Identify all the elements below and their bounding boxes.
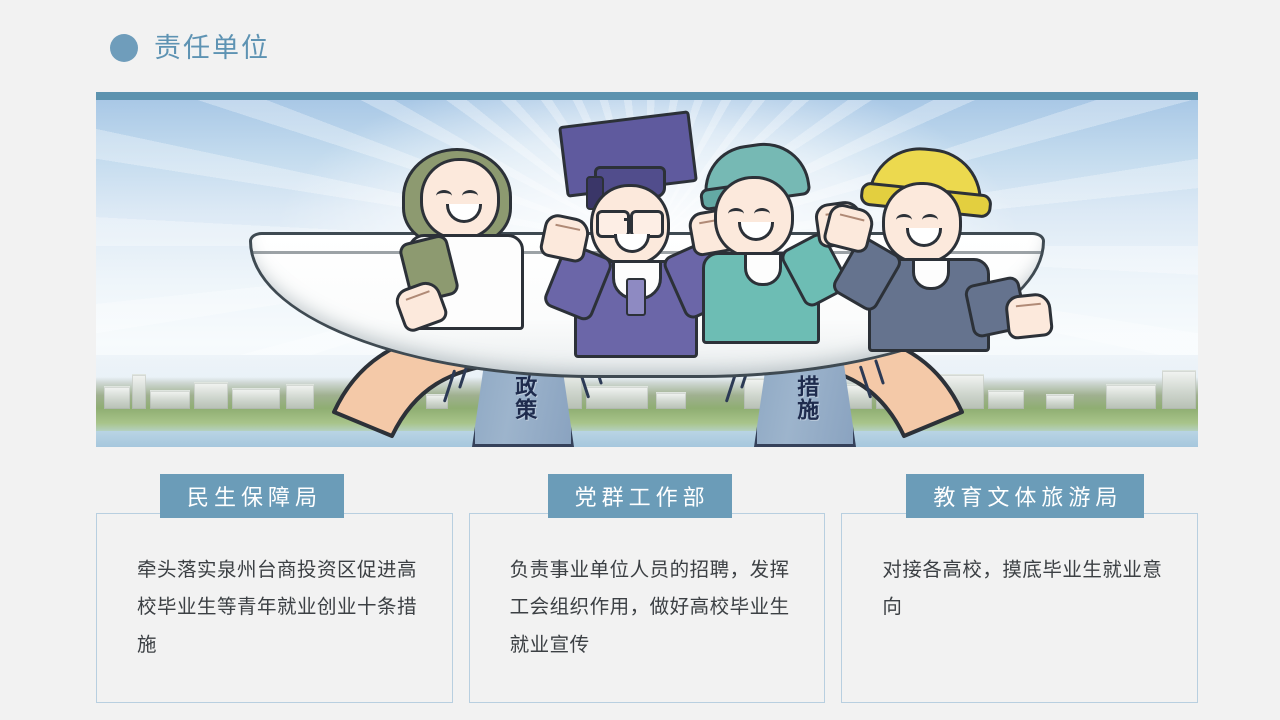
card-min-sheng-bao-zhang-ju[interactable]: 民生保障局 牵头落实泉州台商投资区促进高校毕业生等青年就业创业十条措施 <box>96 513 453 703</box>
page-title: 责任单位 <box>154 35 270 62</box>
hand-icon <box>1004 292 1054 341</box>
card-body-text: 对接各高校，摸底毕业生就业意向 <box>882 552 1169 627</box>
river-water <box>96 431 1198 447</box>
circle-bullet-icon <box>110 34 138 62</box>
card-dang-qun-gong-zuo-bu[interactable]: 党群工作部 负责事业单位人员的招聘，发挥工会组织作用，做好高校毕业生就业宣传 <box>469 513 826 703</box>
pillar-policy-label: 政策 <box>512 375 534 421</box>
responsible-units-cards: 民生保障局 牵头落实泉州台商投资区促进高校毕业生等青年就业创业十条措施 党群工作… <box>96 513 1198 703</box>
card-body-text: 负责事业单位人员的招聘，发挥工会组织作用，做好高校毕业生就业宣传 <box>510 552 797 664</box>
card-badge[interactable]: 民生保障局 <box>160 474 344 518</box>
card-badge[interactable]: 党群工作部 <box>548 474 732 518</box>
illustration-top-bar <box>96 92 1198 100</box>
employment-policy-illustration: 就 业 政策 措施 <box>96 92 1198 447</box>
pillar-measures-label: 措施 <box>794 375 816 421</box>
card-badge[interactable]: 教育文体旅游局 <box>906 474 1144 518</box>
card-body-text: 牵头落实泉州台商投资区促进高校毕业生等青年就业创业十条措施 <box>137 552 424 664</box>
page-header: 责任单位 <box>110 34 270 62</box>
card-jiao-yu-wen-ti-lv-you-ju[interactable]: 教育文体旅游局 对接各高校，摸底毕业生就业意向 <box>841 513 1198 703</box>
